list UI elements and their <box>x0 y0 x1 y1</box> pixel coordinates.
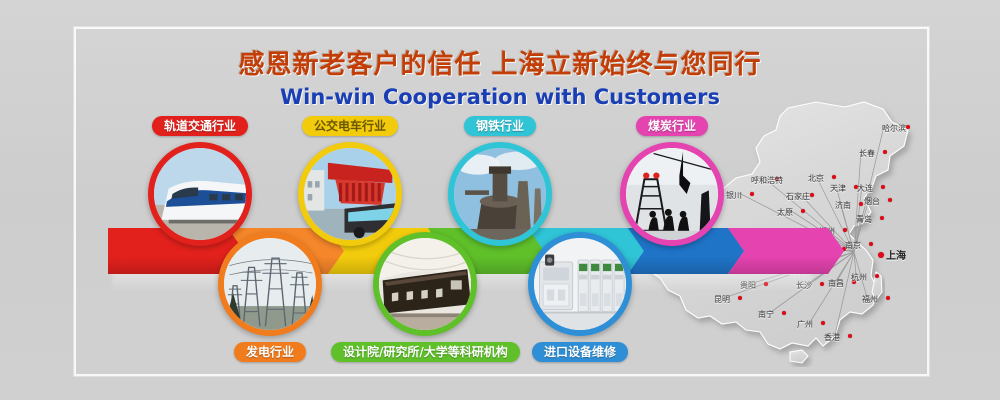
industry-bubble-7[interactable] <box>528 232 632 336</box>
map-dot <box>848 334 852 338</box>
industry-bubble-2[interactable] <box>298 142 402 246</box>
map-city-label: 昆明 <box>714 294 730 305</box>
map-dot <box>869 242 873 246</box>
industry-bubble-6[interactable] <box>373 232 477 336</box>
industry-photo-high-speed-train-photo <box>154 148 246 240</box>
map-city-label: 石家庄 <box>786 191 810 202</box>
map-city-label: 呼和浩特 <box>751 175 783 186</box>
map-dot <box>888 198 892 202</box>
map-city-label: 长春 <box>859 148 875 159</box>
map-dot <box>821 321 825 325</box>
map-city-label: 大连 <box>857 183 873 194</box>
map-dot <box>878 252 884 258</box>
industry-label-4[interactable]: 煤炭行业 <box>636 116 708 136</box>
banner-root: 哈尔滨长春呼和浩特北京天津大连银川石家庄济南烟台太原青岛郑州西安南京合肥武汉杭州… <box>0 0 1000 400</box>
industry-label-7[interactable]: 进口设备维修 <box>532 342 628 362</box>
map-dot <box>738 296 742 300</box>
map-dot <box>881 185 885 189</box>
map-dot <box>820 282 824 286</box>
map-city-label: 北京 <box>808 173 824 184</box>
industry-photo-university-gate-sign-photo <box>379 238 471 330</box>
industry-photo-steel-mill-blast-furnace-photo <box>454 148 546 240</box>
map-city-label: 杭州 <box>851 272 867 283</box>
map-dot <box>906 125 910 129</box>
map-city-label: 香港 <box>824 332 840 343</box>
industry-bubble-3[interactable] <box>448 142 552 246</box>
map-dot <box>750 192 754 196</box>
map-city-label: 银川 <box>726 190 742 201</box>
industry-bubble-1[interactable] <box>148 142 252 246</box>
map-city-label: 福州 <box>862 294 878 305</box>
industry-photo-coal-mine-headframe-silhouette <box>626 148 718 240</box>
map-city-label: 济南 <box>835 200 851 211</box>
map-dot <box>859 202 863 206</box>
map-dot <box>886 296 890 300</box>
map-city-label: 南昌 <box>828 278 844 289</box>
industry-bubble-4[interactable] <box>620 142 724 246</box>
industry-bubble-5[interactable] <box>218 232 322 336</box>
map-city-label: 哈尔滨 <box>882 123 906 134</box>
map-dot <box>883 150 887 154</box>
map-city-label: 太原 <box>777 207 793 218</box>
map-city-label: 上海 <box>886 247 906 262</box>
map-city-label: 广州 <box>797 319 813 330</box>
industry-label-2[interactable]: 公交电车行业 <box>302 116 398 136</box>
map-dot <box>880 216 884 220</box>
ribbon-segment <box>728 228 844 274</box>
map-dot <box>801 209 805 213</box>
map-city-label: 烟台 <box>864 196 880 207</box>
industry-label-6[interactable]: 设计院/研究所/大学等科研机构 <box>331 342 520 362</box>
industry-label-3[interactable]: 钢铁行业 <box>464 116 536 136</box>
map-dot <box>810 193 814 197</box>
map-dot <box>875 274 879 278</box>
map-dot <box>782 311 786 315</box>
map-dot <box>832 175 836 179</box>
industry-photo-power-substation-pylons-photo <box>224 238 316 330</box>
map-city-label: 青岛 <box>856 214 872 225</box>
industry-label-1[interactable]: 轨道交通行业 <box>152 116 248 136</box>
map-city-label: 天津 <box>830 183 846 194</box>
map-city-label: 南宁 <box>758 309 774 320</box>
industry-photo-switchgear-cabinet-photo <box>534 238 626 330</box>
industry-photo-city-bus-china-pavilion-photo <box>304 148 396 240</box>
map-city-label: 南京 <box>845 240 861 251</box>
industry-label-5[interactable]: 发电行业 <box>234 342 306 362</box>
